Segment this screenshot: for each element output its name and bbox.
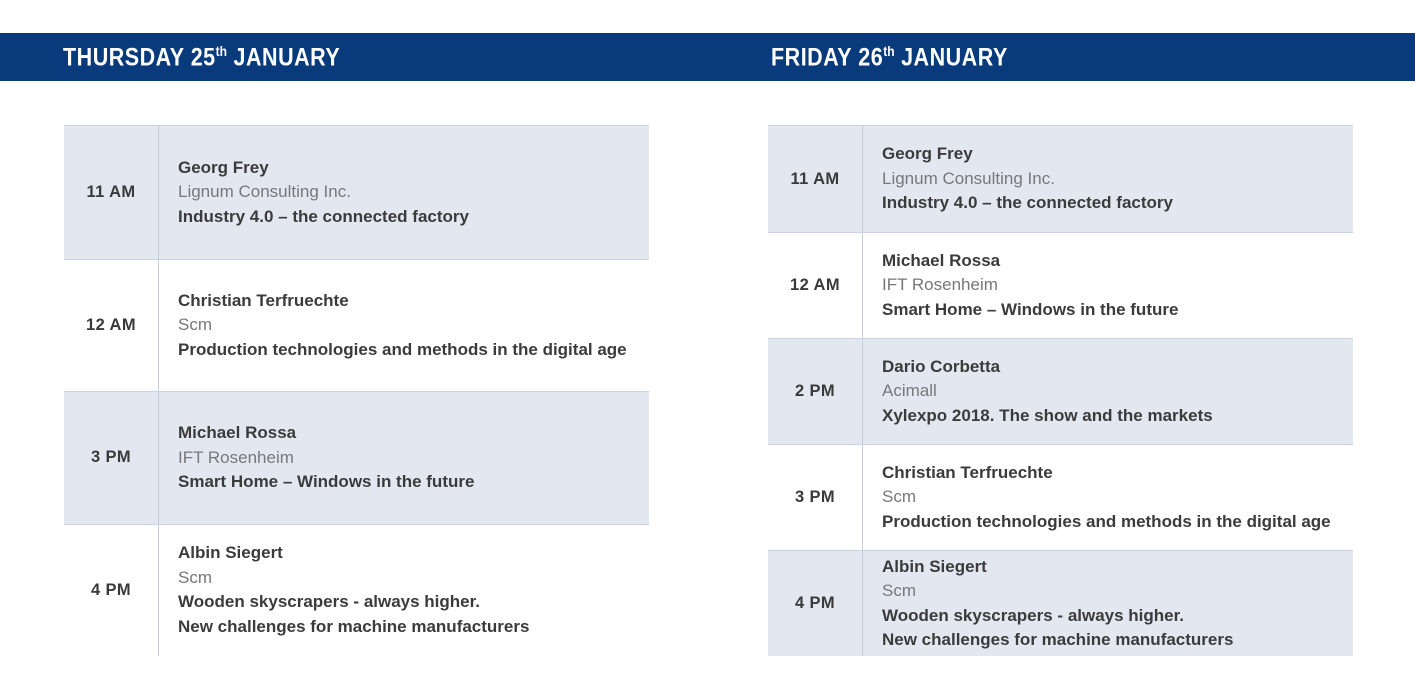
session-talk-line1: Industry 4.0 – the connected factory (882, 191, 1353, 216)
session-talk-line2: New challenges for machine manufacturers (882, 628, 1353, 653)
month-label: JANUARY (234, 43, 341, 71)
session-time: 4 PM (64, 525, 159, 657)
session-speaker: Christian Terfruechte (178, 289, 649, 314)
session-speaker: Albin Siegert (882, 555, 1353, 580)
session-details: Dario Corbetta Acimall Xylexpo 2018. The… (863, 339, 1353, 444)
table-row[interactable]: 4 PM Albin Siegert Scm Wooden skyscraper… (768, 550, 1353, 656)
session-time: 3 PM (64, 392, 159, 524)
session-company: Scm (178, 313, 649, 338)
session-time: 11 AM (64, 126, 159, 259)
session-time: 2 PM (768, 339, 863, 444)
session-time: 4 PM (768, 551, 863, 656)
session-details: Christian Terfruechte Scm Production tec… (159, 260, 649, 392)
session-details: Albin Siegert Scm Wooden skyscrapers - a… (863, 551, 1353, 656)
session-details: Christian Terfruechte Scm Production tec… (863, 445, 1353, 550)
weekday-label: FRIDAY (771, 43, 852, 71)
day-title-friday: FRIDAY 26th JANUARY (771, 44, 1008, 70)
day-header-band: THURSDAY 25th JANUARY FRIDAY 26th JANUAR… (0, 33, 1415, 81)
session-time: 11 AM (768, 126, 863, 232)
session-speaker: Georg Frey (882, 142, 1353, 167)
session-speaker: Michael Rossa (882, 249, 1353, 274)
session-speaker: Georg Frey (178, 156, 649, 181)
day-number: 26 (858, 43, 883, 71)
session-company: Acimall (882, 379, 1353, 404)
session-talk-line1: Wooden skyscrapers - always higher. (882, 604, 1353, 629)
session-company: Scm (882, 579, 1353, 604)
table-row[interactable]: 2 PM Dario Corbetta Acimall Xylexpo 2018… (768, 338, 1353, 444)
day-header-friday: FRIDAY 26th JANUARY (707, 33, 1414, 81)
session-talk-line2: New challenges for machine manufacturers (178, 615, 649, 640)
session-time: 3 PM (768, 445, 863, 550)
session-time: 12 AM (64, 260, 159, 392)
session-details: Albin Siegert Scm Wooden skyscrapers - a… (159, 525, 649, 657)
table-row[interactable]: 12 AM Christian Terfruechte Scm Producti… (64, 259, 649, 392)
day-ordinal-suffix: th (883, 43, 894, 59)
table-row[interactable]: 3 PM Michael Rossa IFT Rosenheim Smart H… (64, 391, 649, 524)
day-title-thursday: THURSDAY 25th JANUARY (63, 44, 340, 70)
session-details: Michael Rossa IFT Rosenheim Smart Home –… (863, 233, 1353, 338)
session-speaker: Michael Rossa (178, 421, 649, 446)
session-company: Scm (178, 566, 649, 591)
session-company: Scm (882, 485, 1353, 510)
session-company: IFT Rosenheim (882, 273, 1353, 298)
session-speaker: Christian Terfruechte (882, 461, 1353, 486)
session-details: Michael Rossa IFT Rosenheim Smart Home –… (159, 392, 649, 524)
session-talk-line1: Production technologies and methods in t… (178, 338, 649, 363)
day-header-thursday: THURSDAY 25th JANUARY (0, 33, 707, 81)
table-row[interactable]: 11 AM Georg Frey Lignum Consulting Inc. … (768, 126, 1353, 232)
table-row[interactable]: 12 AM Michael Rossa IFT Rosenheim Smart … (768, 232, 1353, 338)
weekday-label: THURSDAY (63, 43, 184, 71)
session-talk-line1: Industry 4.0 – the connected factory (178, 205, 649, 230)
session-talk-line1: Xylexpo 2018. The show and the markets (882, 404, 1353, 429)
table-row[interactable]: 4 PM Albin Siegert Scm Wooden skyscraper… (64, 524, 649, 657)
session-speaker: Albin Siegert (178, 541, 649, 566)
table-row[interactable]: 11 AM Georg Frey Lignum Consulting Inc. … (64, 126, 649, 259)
session-company: Lignum Consulting Inc. (882, 167, 1353, 192)
session-talk-line1: Smart Home – Windows in the future (178, 470, 649, 495)
session-talk-line1: Smart Home – Windows in the future (882, 298, 1353, 323)
day-number: 25 (191, 43, 216, 71)
session-company: Lignum Consulting Inc. (178, 180, 649, 205)
schedule-table-friday: 11 AM Georg Frey Lignum Consulting Inc. … (768, 125, 1353, 655)
session-details: Georg Frey Lignum Consulting Inc. Indust… (159, 126, 649, 259)
session-talk-line1: Wooden skyscrapers - always higher. (178, 590, 649, 615)
session-speaker: Dario Corbetta (882, 355, 1353, 380)
table-row[interactable]: 3 PM Christian Terfruechte Scm Productio… (768, 444, 1353, 550)
session-talk-line1: Production technologies and methods in t… (882, 510, 1353, 535)
session-details: Georg Frey Lignum Consulting Inc. Indust… (863, 126, 1353, 232)
schedule-table-thursday: 11 AM Georg Frey Lignum Consulting Inc. … (64, 125, 649, 655)
month-label: JANUARY (901, 43, 1008, 71)
day-ordinal-suffix: th (216, 43, 227, 59)
session-time: 12 AM (768, 233, 863, 338)
session-company: IFT Rosenheim (178, 446, 649, 471)
